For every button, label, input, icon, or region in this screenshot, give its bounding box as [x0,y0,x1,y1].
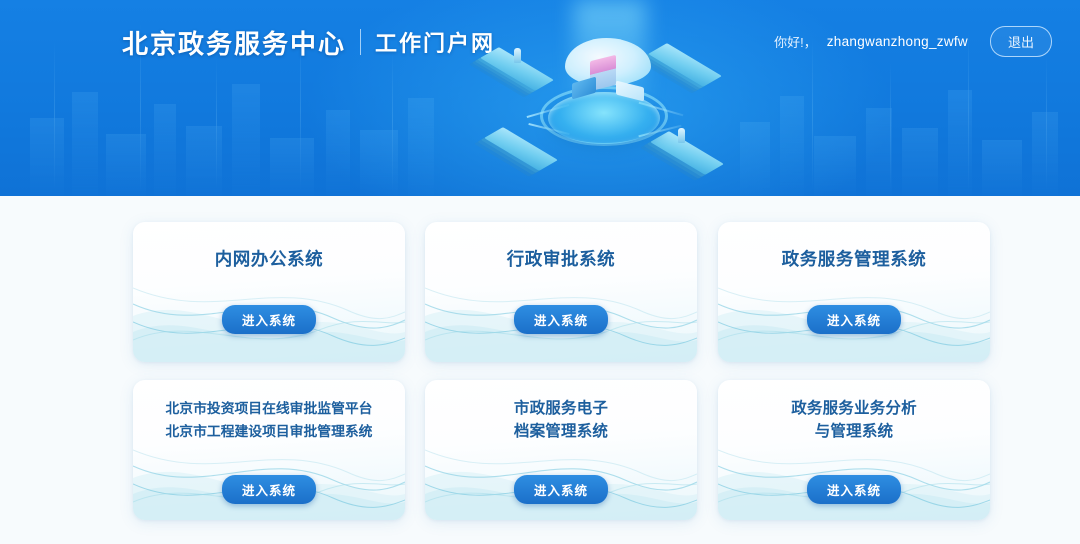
card-title: 内网办公系统 [133,248,405,270]
user-area: 你好!， zhangwanzhong_zwfw 退出 [774,26,1052,57]
site-title: 北京政务服务中心 工作门户网 [122,22,495,62]
hero-illustration [470,0,730,196]
enter-system-button[interactable]: 进入系统 [222,475,316,504]
hero-node-building [484,127,558,171]
card-title-line: 政务服务管理系统 [718,248,990,270]
hero-person-figure [678,128,685,143]
card-title: 政务服务管理系统 [718,248,990,270]
greeting-text: 你好!， [774,32,817,51]
page-header: 北京政务服务中心 工作门户网 你好!， zhangwanzhong_zwfw 退… [0,0,1080,196]
card-title: 行政审批系统 [425,248,697,270]
system-card-intranet-office[interactable]: 内网办公系统 进入系统 [133,222,405,362]
card-title: 北京市投资项目在线审批监管平台 北京市工程建设项目审批管理系统 [133,397,405,443]
system-card-gov-service-analysis[interactable]: 政务服务业务分析 与管理系统 进入系统 [718,380,990,520]
enter-system-button[interactable]: 进入系统 [222,305,316,334]
hero-node-building [648,43,722,87]
enter-system-button[interactable]: 进入系统 [514,305,608,334]
hero-person-figure [514,48,521,63]
system-card-gov-service-management[interactable]: 政务服务管理系统 进入系统 [718,222,990,362]
username-label: zhangwanzhong_zwfw [827,34,968,49]
title-divider [360,29,361,55]
card-title-line: 政务服务业务分析 [718,397,990,420]
enter-system-button[interactable]: 进入系统 [807,305,901,334]
card-row-1: 内网办公系统 进入系统 行政审批系统 进入系统 [0,196,1080,358]
system-card-administrative-approval[interactable]: 行政审批系统 进入系统 [425,222,697,362]
card-title-line: 北京市工程建设项目审批管理系统 [133,420,405,443]
hero-node-building [650,131,724,175]
site-title-main: 北京政务服务中心 [122,24,346,61]
card-title-line: 内网办公系统 [133,248,405,270]
enter-system-button[interactable]: 进入系统 [514,475,608,504]
card-title: 市政服务电子 档案管理系统 [425,397,697,443]
enter-system-button[interactable]: 进入系统 [807,475,901,504]
card-title-line: 北京市投资项目在线审批监管平台 [133,397,405,420]
card-title-line: 行政审批系统 [425,248,697,270]
portal-page: 北京政务服务中心 工作门户网 你好!， zhangwanzhong_zwfw 退… [0,0,1080,544]
card-title-line: 与管理系统 [718,420,990,443]
system-card-investment-project-approval[interactable]: 北京市投资项目在线审批监管平台 北京市工程建设项目审批管理系统 进入系统 [133,380,405,520]
card-title: 政务服务业务分析 与管理系统 [718,397,990,443]
card-row-2: 北京市投资项目在线审批监管平台 北京市工程建设项目审批管理系统 进入系统 市政服… [0,358,1080,520]
system-card-grid: 内网办公系统 进入系统 行政审批系统 进入系统 [0,196,1080,520]
logout-button[interactable]: 退出 [990,26,1052,57]
card-title-line: 档案管理系统 [425,420,697,443]
system-card-municipal-e-archive[interactable]: 市政服务电子 档案管理系统 进入系统 [425,380,697,520]
card-title-line: 市政服务电子 [425,397,697,420]
